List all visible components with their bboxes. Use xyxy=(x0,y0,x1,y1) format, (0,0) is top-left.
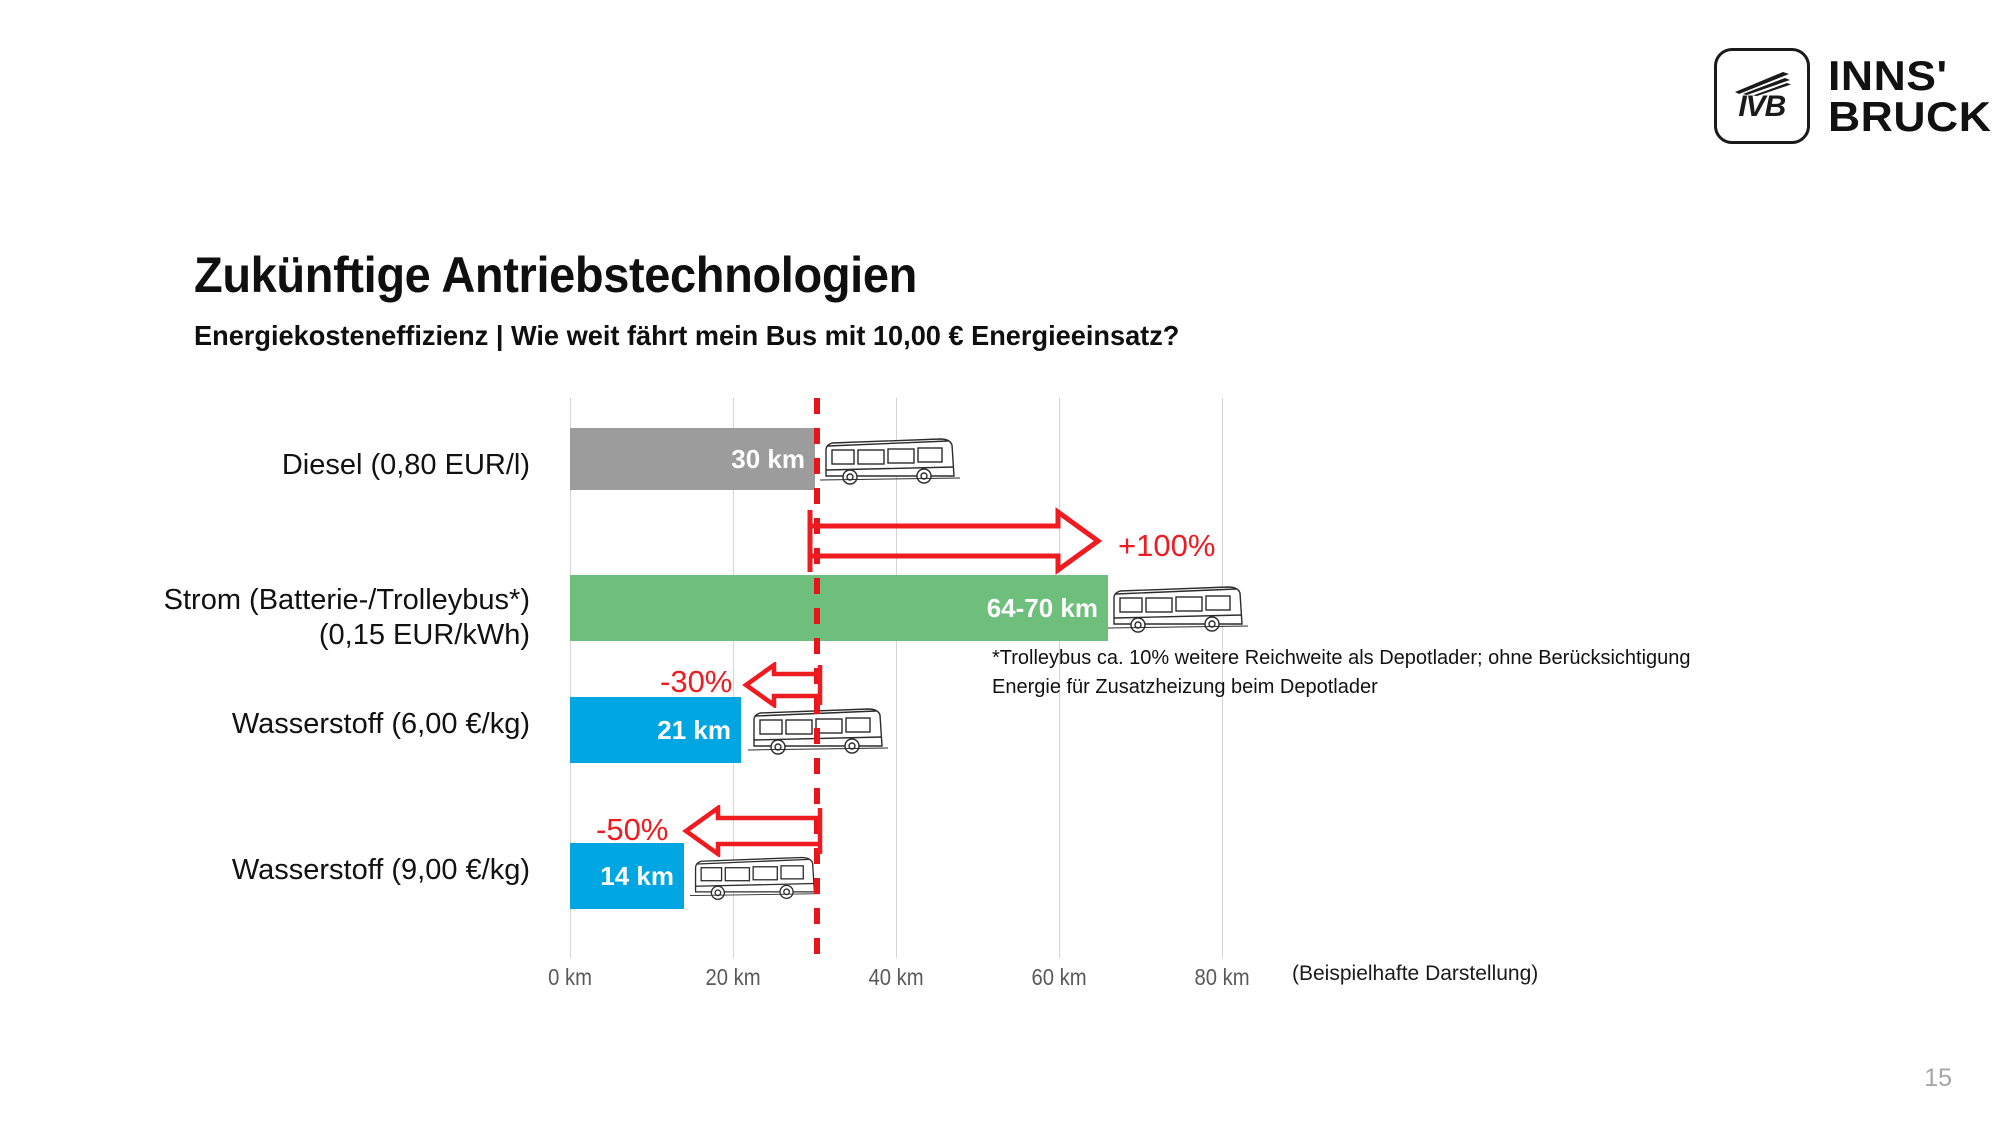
bar-strom: 64-70 km xyxy=(570,575,1108,641)
x-tick-0: 0 km xyxy=(548,964,592,991)
ivb-logo-text: IVB xyxy=(1738,92,1785,122)
page-number: 15 xyxy=(1924,1064,1952,1093)
category-label-wasserstoff-6: Wasserstoff (6,00 €/kg) xyxy=(232,707,530,742)
footnote-text: *Trolleybus ca. 10% weitere Reichweite a… xyxy=(992,644,1691,702)
arrow-minus-30-icon xyxy=(742,662,824,708)
wordmark-line-2: BRUCK xyxy=(1828,96,1991,137)
x-tick-80: 80 km xyxy=(1194,964,1249,991)
axis-note: (Beispielhafte Darstellung) xyxy=(1292,962,1538,986)
bar-wasserstoff-6: 21 km xyxy=(570,697,741,763)
bus-icon-strom xyxy=(1108,578,1248,638)
category-label-diesel: Diesel (0,80 EUR/l) xyxy=(282,448,530,483)
innsbruck-wordmark: INNS' BRUCK xyxy=(1828,55,1982,137)
category-label-wasserstoff-9: Wasserstoff (9,00 €/kg) xyxy=(232,853,530,888)
bar-value-wasserstoff-9: 14 km xyxy=(600,861,684,892)
arrow-minus-50-icon xyxy=(682,805,824,857)
bus-icon-diesel xyxy=(820,430,960,490)
delta-label-minus-30: -30% xyxy=(660,664,732,700)
page-subtitle: Energiekosteneffizienz | Wie weit fährt … xyxy=(194,320,1179,352)
x-tick-60: 60 km xyxy=(1031,964,1086,991)
arrow-plus-100-icon xyxy=(806,506,1106,576)
bar-value-strom: 64-70 km xyxy=(987,593,1108,624)
wordmark-line-1: INNS' xyxy=(1828,55,1991,96)
x-tick-20: 20 km xyxy=(705,964,760,991)
bar-wasserstoff-9: 14 km xyxy=(570,843,684,909)
x-tick-40: 40 km xyxy=(868,964,923,991)
page-title: Zukünftige Antriebstechnologien xyxy=(194,246,917,304)
bar-value-wasserstoff-6: 21 km xyxy=(657,715,741,746)
category-label-strom: Strom (Batterie-/Trolleybus*) (0,15 EUR/… xyxy=(164,583,530,654)
ivb-innsbruck-logo: IVB INNS' BRUCK xyxy=(1714,48,1982,144)
bar-diesel: 30 km xyxy=(570,428,815,490)
delta-label-plus-100: +100% xyxy=(1118,528,1215,564)
bar-value-diesel: 30 km xyxy=(731,444,815,475)
ivb-logo-mark: IVB xyxy=(1714,48,1810,144)
slide-root: IVB INNS' BRUCK Zukünftige Antriebstechn… xyxy=(0,0,2000,1125)
delta-label-minus-50: -50% xyxy=(596,812,668,848)
